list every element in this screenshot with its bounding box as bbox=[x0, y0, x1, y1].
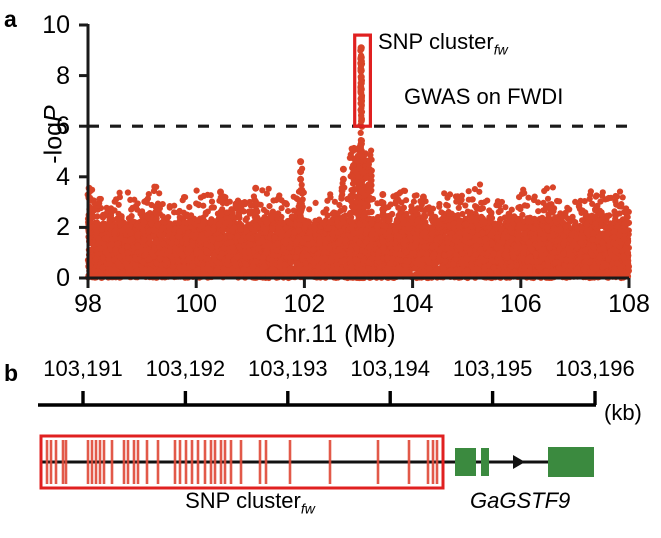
gene-model-diagram bbox=[0, 358, 661, 538]
genomic-ruler bbox=[38, 391, 596, 405]
x-tick-label: 104 bbox=[373, 292, 453, 317]
x-tick-label: 100 bbox=[156, 292, 236, 317]
manhattan-plot bbox=[0, 0, 661, 340]
x-tick-label: 98 bbox=[48, 292, 128, 317]
y-tick-label: 0 bbox=[8, 266, 70, 291]
figure-container: a -logP Chr.11 (Mb) SNP clusterfw GWAS o… bbox=[0, 0, 661, 521]
y-tick-label: 6 bbox=[8, 114, 70, 139]
ruler-tick-label: 103,196 bbox=[535, 358, 655, 380]
y-tick-label: 10 bbox=[8, 13, 70, 38]
x-tick-label: 108 bbox=[589, 292, 661, 317]
scatter-points-layer bbox=[85, 44, 633, 281]
x-tick-label: 106 bbox=[481, 292, 561, 317]
x-tick-label: 102 bbox=[264, 292, 344, 317]
gene-structure-layer bbox=[41, 436, 594, 488]
y-tick-label: 8 bbox=[8, 64, 70, 89]
y-tick-label: 2 bbox=[8, 215, 70, 240]
y-tick-label: 4 bbox=[8, 165, 70, 190]
